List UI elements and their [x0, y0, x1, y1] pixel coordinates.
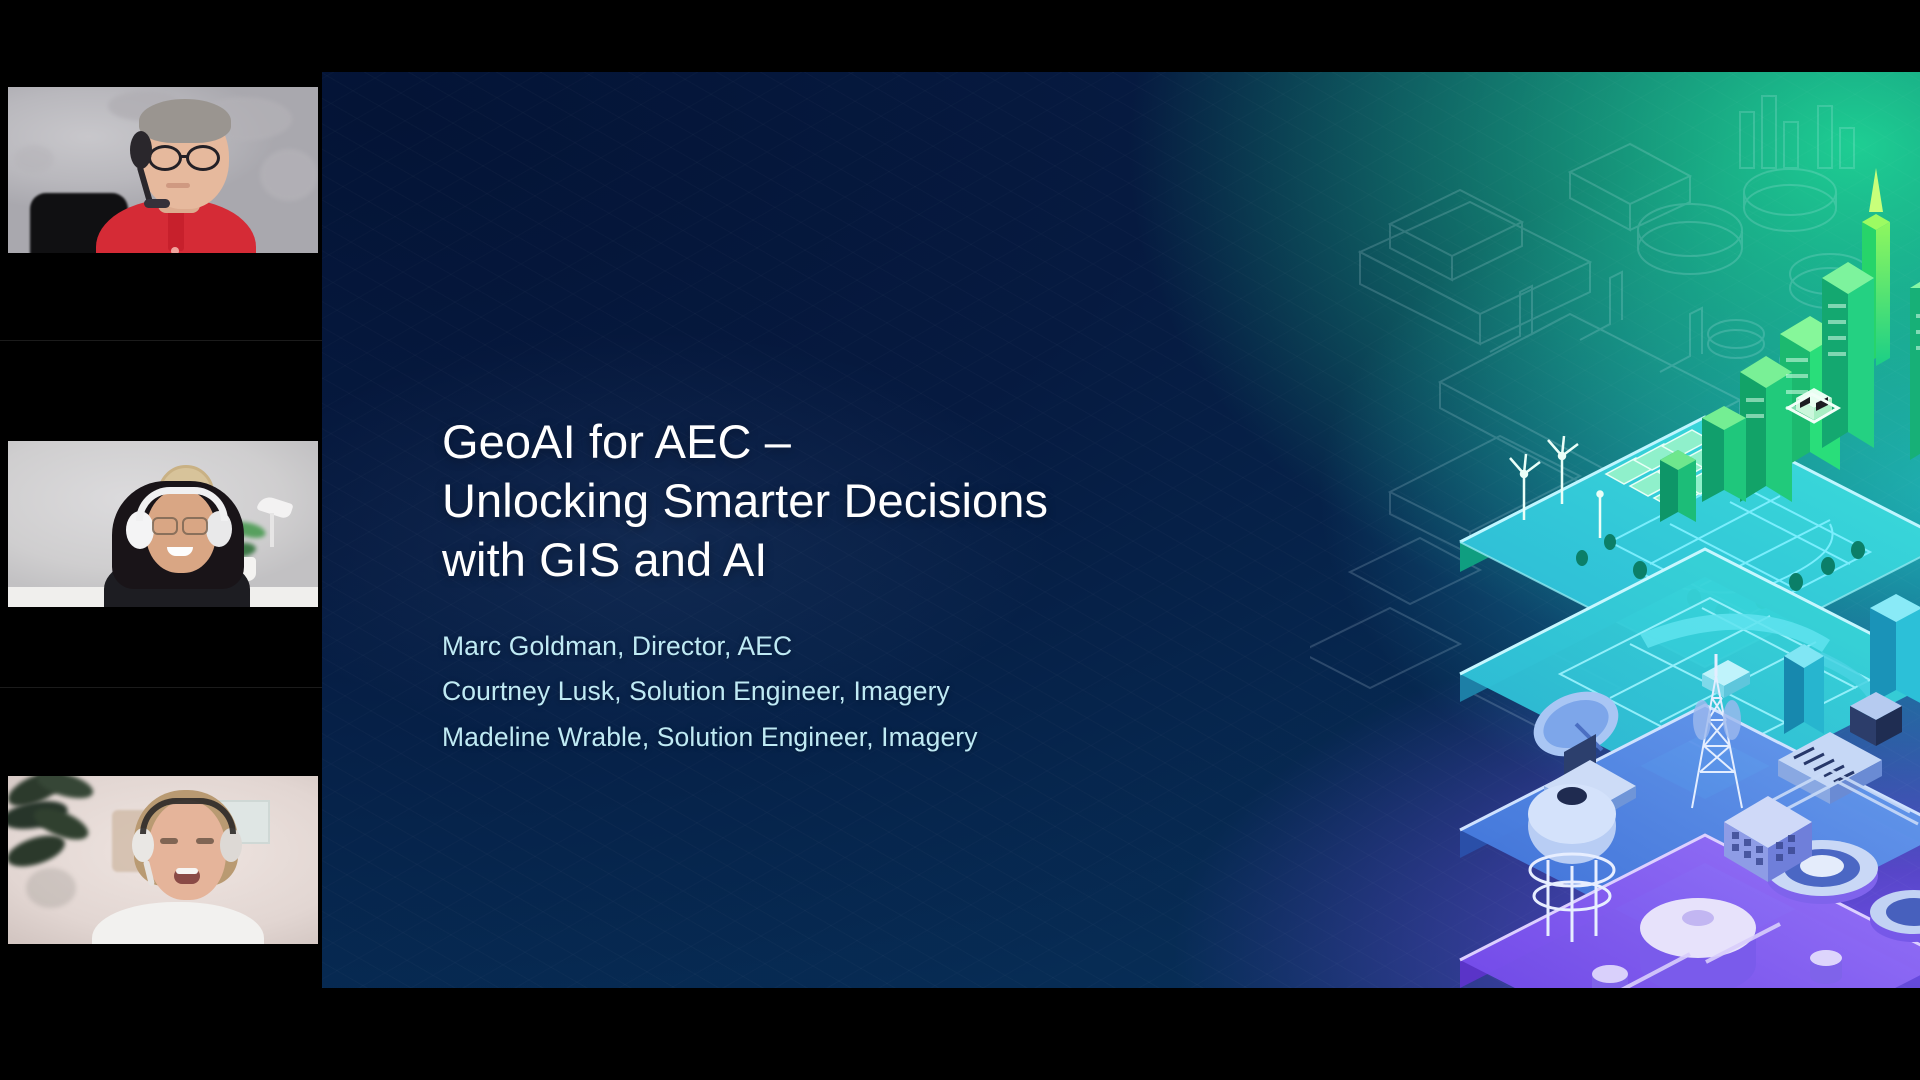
shared-slide[interactable]: GeoAI for AEC – Unlocking Smarter Decisi… — [322, 72, 1920, 988]
slide-title-line-2: Unlocking Smarter Decisions — [442, 471, 1262, 530]
slide-title: GeoAI for AEC – Unlocking Smarter Decisi… — [442, 412, 1262, 590]
meeting-stage: GeoAI for AEC – Unlocking Smarter Decisi… — [0, 0, 1920, 1080]
isometric-city-illustration — [1310, 72, 1920, 988]
participant-video-2 — [8, 441, 318, 607]
participant-video-3 — [8, 776, 318, 944]
presenter-3: Madeline Wrable, Solution Engineer, Imag… — [442, 715, 1262, 761]
presenter-list: Marc Goldman, Director, AEC Courtney Lus… — [442, 624, 1262, 761]
participant-video-1 — [8, 87, 318, 253]
presenter-2: Courtney Lusk, Solution Engineer, Imager… — [442, 669, 1262, 715]
participant-tile-3[interactable] — [0, 687, 322, 1080]
participant-tile-2[interactable] — [0, 340, 322, 687]
participant-filmstrip — [0, 0, 322, 1080]
slide-text-block: GeoAI for AEC – Unlocking Smarter Decisi… — [442, 412, 1262, 760]
slide-title-line-1: GeoAI for AEC – — [442, 412, 1262, 471]
presenter-1: Marc Goldman, Director, AEC — [442, 624, 1262, 670]
participant-tile-1[interactable] — [0, 0, 322, 340]
slide-title-line-3: with GIS and AI — [442, 530, 1262, 589]
